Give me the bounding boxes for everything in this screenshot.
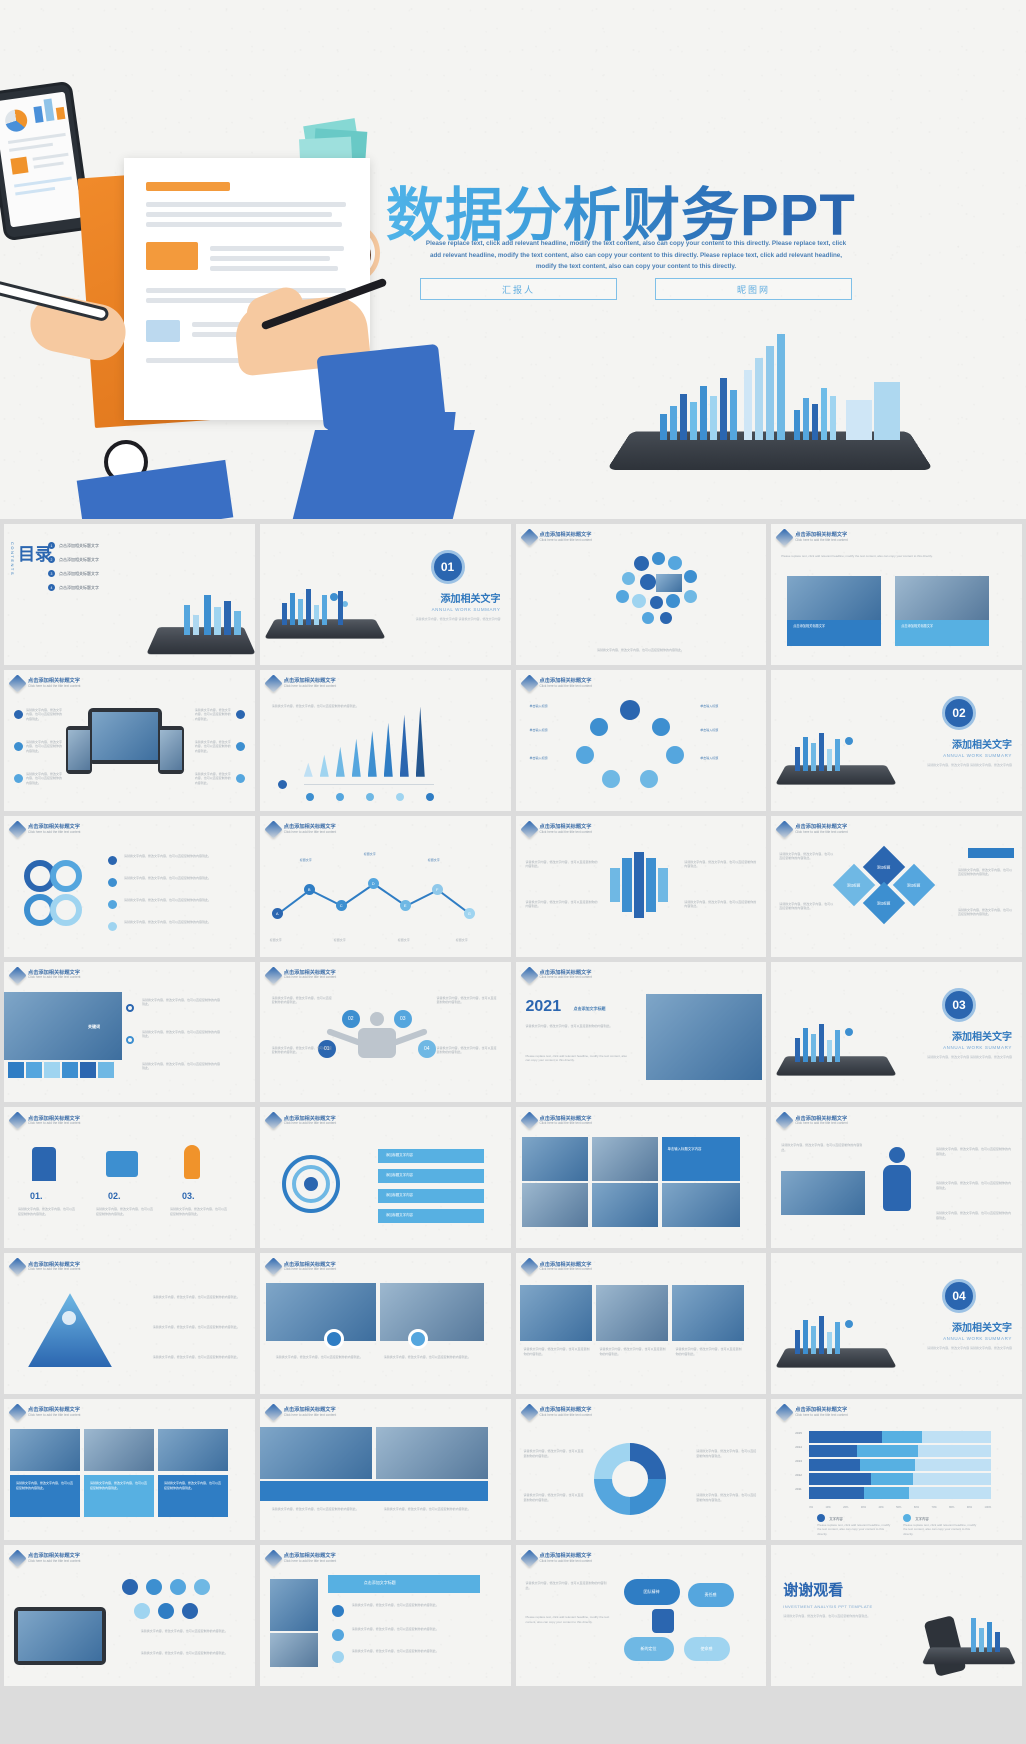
number-badge: 03 bbox=[394, 1010, 412, 1028]
diamond-icon bbox=[8, 966, 26, 984]
slide-thumbnail-person-numbers[interactable]: 点击添加相关标题文字 Click here to add the title t… bbox=[260, 962, 511, 1103]
slide-body-text: 请替换文字内容，修改文字内容，也可以直接复制你的内容到此。 bbox=[684, 860, 756, 869]
slide-body-text: 请替换文字内容，修改文字内容，也可以直接复制你的内容到此。 bbox=[272, 1507, 372, 1512]
chart-category-label: 2011 bbox=[795, 1487, 801, 1491]
chart-x-tick: 80% bbox=[949, 1506, 954, 1509]
slide-thumbnail-grid: CONTENTS 目录 1 点击添加相关标题文字 2 点击添加相关标题文字 3 … bbox=[0, 519, 1026, 1691]
slide-body-text: 请替换文字内容，修改文字内容，也可以直接复制你的内容到此。 bbox=[958, 908, 1014, 917]
section-title: 添加相关文字 bbox=[927, 736, 1012, 751]
slide-thumbnail-section-03[interactable]: 03 添加相关文字 ANNUAL WORK SUMMARY 请替换文字内容，修改… bbox=[771, 962, 1022, 1103]
legend-label: 文字内容 bbox=[915, 1517, 929, 1522]
checklist-label: 添加标题文字内容 bbox=[386, 1193, 413, 1198]
slide-body-text: 请替换文字内容，修改文字内容，也可以直接复制你的内容到此。 bbox=[142, 998, 222, 1007]
slide-header: 点击添加相关标题文字 Click here to add the title t… bbox=[267, 1114, 336, 1127]
template-preview-page: 数据分析财务PPT Please replace text, click add… bbox=[0, 0, 1026, 1744]
slide-thumbnail-keyword-photo[interactable]: 点击添加相关标题文字 Click here to add the title t… bbox=[4, 962, 255, 1103]
chart-category-label: 2015 bbox=[795, 1431, 802, 1435]
photo-thumb bbox=[84, 1429, 154, 1471]
slide-body-text: 请替换文字内容，修改文字内容，也可以直接复制你的内容到此。 bbox=[18, 1207, 76, 1216]
thumbnail-strip bbox=[8, 1062, 114, 1078]
chart-bar-segment bbox=[857, 1445, 919, 1457]
axis-label: 标题文字 bbox=[364, 852, 376, 857]
section-title-block: 添加相关文字 ANNUAL WORK SUMMARY 请替换文字内容，修改文字内… bbox=[416, 590, 501, 622]
slide-body-text: Please replace text, click add relevant … bbox=[526, 1615, 612, 1624]
list-item-label: 点击添加相关标题文字 bbox=[59, 585, 99, 591]
slide-header: 点击添加相关标题文字 Click here to add the title t… bbox=[11, 1260, 80, 1273]
diamond-icon bbox=[264, 1403, 282, 1421]
section-number-badge: 02 bbox=[942, 696, 976, 730]
slide-body-text: 请替换文字内容，修改文字内容，也可以直接复制你的内容到此。 bbox=[272, 1046, 334, 1055]
slide-thumbnail-section-04[interactable]: 04 添加相关文字 ANNUAL WORK SUMMARY 请替换文字内容，修改… bbox=[771, 1253, 1022, 1394]
list-item-label: 点击添加相关标题文字 bbox=[59, 557, 99, 563]
list-item[interactable]: 3 点击添加相关标题文字 bbox=[48, 570, 99, 577]
slide-header: 点击添加相关标题文字 Click here to add the title t… bbox=[267, 1406, 336, 1419]
slide-thumbnail-team-clouds[interactable]: 点击添加相关标题文字 Click here to add the title t… bbox=[516, 1545, 767, 1686]
slide-body-text: 请替换文字内容，修改文字内容，也可以直接复制你的内容到此。 bbox=[936, 1181, 1012, 1190]
chart-x-tick: 50% bbox=[896, 1506, 901, 1509]
slide-body-text: 请替换文字内容，修改文字内容，也可以直接复制你的内容到此。 bbox=[524, 1493, 586, 1502]
slide-label: 单击输入标题 bbox=[530, 728, 582, 733]
diamond-icon bbox=[520, 1549, 538, 1567]
title-banner-label: 点击添加文字标题 bbox=[364, 1580, 396, 1586]
diamond-icon bbox=[264, 820, 282, 838]
slide-body-text: 请替换文字内容，修改文字内容，也可以直接复制你的内容到此。 bbox=[936, 1211, 1012, 1220]
photo-thumb bbox=[672, 1285, 744, 1341]
person-icon bbox=[889, 1147, 905, 1163]
slide-body-text: 请替换文字内容，修改文字内容，也可以直接复制你的内容到此。 bbox=[684, 900, 756, 909]
slide-thumbnail-grid-photos[interactable]: 点击添加相关标题文字 Click here to add the title t… bbox=[4, 1399, 255, 1540]
number-badge: 04 bbox=[418, 1040, 436, 1058]
slide-body-text: 请替换文字内容，修改文字内容，也可以直接复制你的内容到此。 bbox=[779, 852, 835, 861]
diamond-icon bbox=[264, 674, 282, 692]
diamond-icon bbox=[520, 1403, 538, 1421]
caption-box bbox=[260, 1481, 488, 1501]
thankyou-subtitle: INVESTMENT ANALYSIS PPT TEMPLATE bbox=[783, 1604, 903, 1609]
slide-header-sub: Click here to add the title text content bbox=[540, 539, 592, 543]
list-item-label: 点击添加相关标题文字 bbox=[59, 571, 99, 577]
chart-bar-segment bbox=[913, 1473, 991, 1485]
contents-cn-label: 目录 bbox=[18, 540, 52, 565]
slide-header: 点击添加相关标题文字 Click here to add the title t… bbox=[778, 823, 847, 836]
slide-thumbnail-photo-collage[interactable]: 点击添加相关标题文字 Click here to add the title t… bbox=[516, 1107, 767, 1248]
slide-thumbnail-icon-cluster[interactable]: 点击添加相关标题文字 Click here to add the title t… bbox=[516, 524, 767, 665]
slide-body-text: 请替换文字内容，修改文字内容，也可以直接复制你的内容到此。 bbox=[124, 876, 220, 881]
slide-header-sub: Click here to add the title text content bbox=[284, 685, 336, 689]
slide-header-sub: Click here to add the title text content bbox=[540, 976, 592, 980]
photo-thumb bbox=[158, 1429, 228, 1471]
photo-thumb bbox=[522, 1183, 588, 1227]
chart-bar-segment bbox=[809, 1487, 864, 1499]
photo-thumb bbox=[662, 1183, 740, 1227]
slide-header: 点击添加相关标题文字 Click here to add the title t… bbox=[523, 1114, 592, 1127]
checklist-label: 添加标题文字内容 bbox=[386, 1153, 413, 1158]
section-subtitle: ANNUAL WORK SUMMARY bbox=[927, 1045, 1012, 1050]
slide-body-text: 请替换文字内容，修改文字内容，也可以直接复制你的内容到此。 bbox=[141, 1651, 245, 1656]
slide-header: 点击添加相关标题文字 Click here to add the title t… bbox=[523, 1260, 592, 1273]
phone-device bbox=[924, 1615, 967, 1677]
slide-body-text: Please replace text, click add relevant … bbox=[526, 1054, 630, 1063]
slide-body-text: 请替换文字内容，修改文字内容，也可以直接复制你的内容到此。 bbox=[153, 1325, 245, 1330]
reporter-button[interactable]: 汇报人 bbox=[420, 278, 617, 300]
slide-header: 点击添加相关标题文字 Click here to add the title t… bbox=[523, 531, 592, 544]
slide-label: 单击输入标题 bbox=[530, 704, 582, 709]
chart-bar-segment bbox=[809, 1431, 882, 1443]
photo-thumb bbox=[270, 1579, 318, 1631]
slide-header-sub: Click here to add the title text content bbox=[795, 831, 847, 835]
slide-thumbnail-gear-cycle[interactable]: 点击添加相关标题文字 Click here to add the title t… bbox=[516, 1399, 767, 1540]
slide-header-sub: Click here to add the title text content bbox=[540, 1414, 592, 1418]
slide-thumbnail-wide-photo-circles[interactable]: 点击添加相关标题文字 Click here to add the title t… bbox=[260, 1253, 511, 1394]
contents-en-label: CONTENTS bbox=[10, 542, 15, 576]
slide-body-text: 请替换文字内容，修改文字内容，也可以直接复制你的内容到此。 bbox=[195, 740, 233, 754]
slide-body-text: 请替换文字内容，修改文字内容，也可以直接复制你的内容到此。 bbox=[170, 1207, 228, 1216]
slide-header-sub: Click here to add the title text content bbox=[28, 1414, 80, 1418]
slide-header-sub: Click here to add the title text content bbox=[540, 831, 592, 835]
axis-label: 标题文字 bbox=[334, 938, 346, 943]
slide-body-text: 请替换文字内容，修改文字内容，也可以直接复制你的内容到此。 bbox=[526, 1024, 630, 1029]
number-badge: 02 bbox=[342, 1010, 360, 1028]
slide-label: 单击输入标题 bbox=[530, 756, 582, 761]
folder-icon bbox=[106, 1151, 138, 1177]
chart-row: 2011 bbox=[809, 1487, 991, 1499]
chart-bar-segment bbox=[809, 1459, 860, 1471]
slide-body-text: 请替换文字内容，修改文字内容，也可以直接复制你的内容到此。 bbox=[26, 740, 64, 754]
chart-bar-segment bbox=[864, 1487, 910, 1499]
slide-body-text: 请替换文字内容，修改文字内容，也可以直接复制你的内容到此。 bbox=[384, 1507, 484, 1512]
slide-body-text: 请替换文字内容，修改文字内容，也可以直接复制你的内容到此。 bbox=[781, 1143, 865, 1152]
section-number-badge: 03 bbox=[942, 988, 976, 1022]
slide-thumbnail-diamonds[interactable]: 点击添加相关标题文字 Click here to add the title t… bbox=[771, 816, 1022, 957]
slide-header-sub: Click here to add the title text content bbox=[540, 1560, 592, 1564]
slide-body-text: 请替换文字内容，修改文字内容，也可以直接复制你的内容到此。 bbox=[696, 1449, 758, 1458]
photo-thumb bbox=[787, 576, 881, 620]
diamond-icon bbox=[520, 820, 538, 838]
caption-label: 请替换文字内容，修改文字内容，也可以直接复制你的内容到此。 bbox=[164, 1481, 222, 1490]
photo-thumb bbox=[520, 1285, 592, 1341]
hero-banner: 数据分析财务PPT Please replace text, click add… bbox=[0, 0, 1026, 519]
slide-header-sub: Click here to add the title text content bbox=[540, 1122, 592, 1126]
hero-bar-chart bbox=[660, 330, 900, 440]
section-title-block: 添加相关文字 ANNUAL WORK SUMMARY 请替换文字内容，修改文字内… bbox=[927, 1319, 1012, 1351]
slide-body-text: 请替换文字内容，修改文字内容，也可以直接复制你的内容到此。 bbox=[96, 1207, 154, 1216]
slide-thumbnail-split-photo[interactable]: 点击添加相关标题文字 Click here to add the title t… bbox=[260, 1399, 511, 1540]
slide-body-text: 请替换文字内容，修改文字内容，也可以直接复制你的内容到此。 bbox=[26, 708, 64, 722]
slide-body-text: 请替换文字内容，修改文字内容，也可以直接复制你的内容到此。 bbox=[272, 704, 362, 709]
slide-body-text: 请替换文字内容，修改文字内容，也可以直接复制你的内容到此。 bbox=[26, 772, 64, 786]
hero-button-row: 汇报人 昵图网 bbox=[420, 278, 852, 300]
checklist-label: 添加标题文字内容 bbox=[386, 1213, 413, 1218]
slide-body-text: 请替换文字内容，修改文字内容，也可以直接复制你的内容到此。 bbox=[779, 902, 835, 911]
slide-header: 点击添加相关标题文字 Click here to add the title t… bbox=[11, 1552, 80, 1565]
list-index: 4 bbox=[48, 584, 55, 591]
step-number: 01. bbox=[30, 1191, 43, 1201]
slide-header: 点击添加相关标题文字 Click here to add the title t… bbox=[11, 969, 80, 982]
slide-body-text: 请替换文字内容，修改文字内容，也可以直接复制你的内容到此。 bbox=[526, 860, 598, 869]
section-desc: 请替换文字内容，修改文字内容 请替换文字内容，修改文字内容 bbox=[927, 1346, 1012, 1351]
slide-header: 点击添加相关标题文字 Click here to add the title t… bbox=[523, 823, 592, 836]
tag-bubble: 使命感 bbox=[684, 1637, 730, 1661]
section-title: 添加相关文字 bbox=[416, 590, 501, 605]
section-subtitle: ANNUAL WORK SUMMARY bbox=[927, 753, 1012, 758]
chart-bar-segment bbox=[909, 1487, 991, 1499]
list-index: 2 bbox=[48, 556, 55, 563]
tag-bubble: 新的定位 bbox=[624, 1637, 674, 1661]
slide-label: 单击输入标题 bbox=[700, 728, 752, 733]
diamond-icon bbox=[520, 528, 538, 546]
diamond-label: 添加标题 bbox=[907, 882, 921, 887]
slide-thumbnail-pin-icons[interactable]: 点击添加相关标题文字 Click here to add the title t… bbox=[516, 670, 767, 811]
slide-body-text: 请替换文字内容，修改文字内容，也可以直接复制你的内容到此。 bbox=[124, 854, 220, 859]
diamond-icon bbox=[520, 1258, 538, 1276]
thankyou-block: 谢谢观看 INVESTMENT ANALYSIS PPT TEMPLATE 请替… bbox=[783, 1579, 903, 1619]
slide-header: 点击添加相关标题文字 Click here to add the title t… bbox=[523, 969, 592, 982]
diamond-label: 添加标题 bbox=[877, 864, 891, 869]
chart-bar-segment bbox=[915, 1459, 991, 1471]
chart-bar-segment bbox=[860, 1459, 915, 1471]
chart-row: 2012 bbox=[809, 1473, 991, 1485]
diamond-icon bbox=[776, 528, 794, 546]
slide-header-sub: Click here to add the title text content bbox=[284, 831, 336, 835]
slide-body-text: 请替换文字内容，修改文字内容，也可以直接复制你的内容到此。 bbox=[352, 1649, 480, 1654]
slide-thumbnail-3d-bars[interactable]: 点击添加相关标题文字 Click here to add the title t… bbox=[516, 816, 767, 957]
source-button[interactable]: 昵图网 bbox=[655, 278, 852, 300]
tag-bubble: 责任感 bbox=[688, 1583, 734, 1607]
slide-body-text: 请替换文字内容，修改文字内容，也可以直接复制你的内容到此。 bbox=[534, 648, 748, 653]
legend-label: 文字内容 bbox=[829, 1517, 843, 1522]
chart-category-label: 2012 bbox=[795, 1473, 802, 1477]
slide-header: 点击添加相关标题文字 Click here to add the title t… bbox=[267, 1552, 336, 1565]
slide-thumbnail-devices[interactable]: 点击添加相关标题文字 Click here to add the title t… bbox=[4, 670, 255, 811]
section-subtitle: ANNUAL WORK SUMMARY bbox=[416, 607, 501, 612]
section-number-badge: 04 bbox=[942, 1279, 976, 1313]
slide-body-text: Please replace text, click add relevant … bbox=[903, 1523, 979, 1537]
list-item[interactable]: 2 点击添加相关标题文字 bbox=[48, 556, 99, 563]
chart-row: 2015 bbox=[809, 1431, 991, 1443]
slide-thumbnail-year-photo[interactable]: 点击添加相关标题文字 Click here to add the title t… bbox=[516, 962, 767, 1103]
photo-thumb bbox=[266, 1283, 376, 1341]
slide-body-text: 请替换文字内容，修改文字内容，也可以直接复制你的内容到此。 bbox=[142, 1030, 222, 1039]
diamond-icon bbox=[264, 1112, 282, 1130]
slide-header-sub: Click here to add the title text content bbox=[28, 976, 80, 980]
slide-header: 点击添加相关标题文字 Click here to add the title t… bbox=[523, 677, 592, 690]
slide-body-text: 请替换文字内容，修改文字内容，也可以直接复制你的内容到此。 bbox=[437, 1046, 499, 1055]
caption-label: 点击添加相关标题文字 bbox=[901, 624, 985, 629]
photo-thumb bbox=[895, 576, 989, 620]
photo-thumb bbox=[380, 1283, 484, 1341]
diamond-icon bbox=[8, 1112, 26, 1130]
caption-label: 请替换文字内容，修改文字内容，也可以直接复制你的内容到此。 bbox=[16, 1481, 74, 1490]
slide-label: 单击输入标题 bbox=[700, 756, 752, 761]
slide-thumbnail-triangle-bars[interactable]: 点击添加相关标题文字 Click here to add the title t… bbox=[260, 670, 511, 811]
keyword-tag: 关键词 bbox=[88, 1024, 100, 1030]
slide-header-sub: Click here to add the title text content bbox=[28, 1560, 80, 1564]
axis-label: 标题文字 bbox=[456, 938, 468, 943]
chart-x-tick: 0% bbox=[809, 1506, 813, 1509]
slide-header: 点击添加相关标题文字 Click here to add the title t… bbox=[267, 969, 336, 982]
slide-header: 点击添加相关标题文字 Click here to add the title t… bbox=[11, 823, 80, 836]
slide-header-sub: Click here to add the title text content bbox=[284, 1560, 336, 1564]
slide-body-text: 请替换文字内容，修改文字内容，也可以直接复制你的内容到此。 bbox=[958, 868, 1014, 877]
slide-header-sub: Click here to add the title text content bbox=[28, 831, 80, 835]
chart-x-tick: 70% bbox=[932, 1506, 937, 1509]
slide-header-sub: Click here to add the title text content bbox=[284, 1414, 336, 1418]
slide-thumbnail-two-photos[interactable]: 点击添加相关标题文字 Click here to add the title t… bbox=[771, 524, 1022, 665]
slide-header-sub: Click here to add the title text content bbox=[28, 1122, 80, 1126]
slide-thumbnail-tablet-icons[interactable]: 点击添加相关标题文字 Click here to add the title t… bbox=[4, 1545, 255, 1686]
chart-x-tick: 90% bbox=[967, 1506, 972, 1509]
diamond-icon bbox=[8, 1403, 26, 1421]
slide-body-text: 请替换文字内容，修改文字内容，也可以直接复制你的内容到此。 bbox=[124, 898, 220, 903]
slide-body-text: 请替换文字内容，修改文字内容，也可以直接复制你的内容到此。 bbox=[600, 1347, 666, 1356]
diamond-icon bbox=[776, 1112, 794, 1130]
slide-header: 点击添加相关标题文字 Click here to add the title t… bbox=[11, 677, 80, 690]
photo-thumb bbox=[10, 1429, 80, 1471]
slide-header-sub: Click here to add the title text content bbox=[540, 1268, 592, 1272]
axis-label: 标题文字 bbox=[398, 938, 410, 943]
slide-body-text: 请替换文字内容，修改文字内容，也可以直接复制你的内容到此。 bbox=[142, 1062, 222, 1071]
photo-thumb bbox=[376, 1427, 488, 1479]
chart-category-label: 2013 bbox=[795, 1459, 802, 1463]
axis-label: 标题文字 bbox=[270, 938, 282, 943]
contents-list: 1 点击添加相关标题文字 2 点击添加相关标题文字 3 点击添加相关标题文字 4… bbox=[48, 542, 99, 598]
diamond-icon bbox=[264, 1258, 282, 1276]
slide-header: 点击添加相关标题文字 Click here to add the title t… bbox=[267, 677, 336, 690]
photo-thumb bbox=[522, 1137, 588, 1181]
section-desc: 请替换文字内容，修改文字内容 请替换文字内容，修改文字内容 bbox=[927, 763, 1012, 768]
slide-header-sub: Click here to add the title text content bbox=[284, 1268, 336, 1272]
diamond-icon bbox=[8, 1549, 26, 1567]
caption-box bbox=[662, 1137, 740, 1181]
slide-header: 点击添加相关标题文字 Click here to add the title t… bbox=[778, 531, 847, 544]
chart-row: 2013 bbox=[809, 1459, 991, 1471]
slide-body-text: 请替换文字内容，修改文字内容，也可以直接复制你的内容到此。 bbox=[195, 708, 233, 722]
chart-x-tick: 10% bbox=[825, 1506, 830, 1509]
slide-body-text: 请替换文字内容，修改文字内容，也可以直接复制你的内容到此。 bbox=[276, 1355, 370, 1360]
step-number: 03. bbox=[182, 1191, 195, 1201]
chart-bar-segment bbox=[882, 1431, 922, 1443]
slide-thumbnail-rings[interactable]: 点击添加相关标题文字 Click here to add the title t… bbox=[4, 816, 255, 957]
rocket-icon bbox=[184, 1145, 200, 1179]
slide-thumbnail-section-01[interactable]: 01 添加相关文字 ANNUAL WORK SUMMARY 请替换文字内容，修改… bbox=[260, 524, 511, 665]
chart-x-tick: 40% bbox=[878, 1506, 883, 1509]
diamond-icon bbox=[8, 820, 26, 838]
photo-thumb bbox=[4, 992, 122, 1060]
slide-header: 点击添加相关标题文字 Click here to add the title t… bbox=[267, 823, 336, 836]
slide-body-text: 请替换文字内容，修改文字内容，也可以直接复制你的内容到此。 bbox=[936, 1147, 1012, 1156]
slide-header-sub: Click here to add the title text content bbox=[795, 1414, 847, 1418]
section-title-block: 添加相关文字 ANNUAL WORK SUMMARY 请替换文字内容，修改文字内… bbox=[927, 1028, 1012, 1060]
photo-thumb bbox=[260, 1427, 372, 1479]
list-item-label: 点击添加相关标题文字 bbox=[59, 543, 99, 549]
diamond-label: 添加标题 bbox=[847, 882, 861, 887]
tag-box bbox=[968, 848, 1014, 858]
chart-x-tick: 60% bbox=[914, 1506, 919, 1509]
slide-body-text: 请替换文字内容，修改文字内容，也可以直接复制你的内容到此。 bbox=[524, 1449, 586, 1458]
slide-thumbnail-person-stats[interactable]: 点击添加相关标题文字 Click here to add the title t… bbox=[771, 1107, 1022, 1248]
chart-x-tick: 100% bbox=[985, 1506, 992, 1509]
thankyou-title: 谢谢观看 bbox=[783, 1579, 903, 1600]
section-title: 添加相关文字 bbox=[927, 1319, 1012, 1334]
slide-thumbnail-thankyou[interactable]: 谢谢观看 INVESTMENT ANALYSIS PPT TEMPLATE 请替… bbox=[771, 1545, 1022, 1686]
title-banner bbox=[328, 1575, 480, 1593]
caption-label: 请替换文字内容，修改文字内容，也可以直接复制你的内容到此。 bbox=[90, 1481, 148, 1490]
list-item[interactable]: 4 点击添加相关标题文字 bbox=[48, 584, 99, 591]
slide-thumbnail-abcdefg-line[interactable]: 点击添加相关标题文字 Click here to add the title t… bbox=[260, 816, 511, 957]
diamond-icon bbox=[264, 966, 282, 984]
checklist-label: 添加标题文字内容 bbox=[386, 1173, 413, 1178]
slide-body-text: 请替换文字内容，修改文字内容，也可以直接复制你的内容到此。 bbox=[526, 1581, 612, 1590]
list-index: 3 bbox=[48, 570, 55, 577]
section-number-badge: 01 bbox=[431, 550, 465, 584]
axis-label: 标题文字 bbox=[300, 858, 312, 863]
slide-thumbnail-section-02[interactable]: 02 添加相关文字 ANNUAL WORK SUMMARY 请替换文字内容，修改… bbox=[771, 670, 1022, 811]
diamond-icon bbox=[8, 1258, 26, 1276]
slide-body-text: 请替换文字内容，修改文字内容，也可以直接复制你的内容到此。 bbox=[352, 1603, 480, 1608]
slide-title: 点击添加文字标题 bbox=[574, 1006, 606, 1012]
caption-label: 单击输入标题文字内容 bbox=[668, 1147, 734, 1152]
chart-bar-segment bbox=[809, 1473, 871, 1485]
slide-body-text: 请替换文字内容，修改文字内容，也可以直接复制你的内容到此。 bbox=[153, 1355, 245, 1360]
chart-x-axis: 0%10%20%30%40%50%60%70%80%90%100% bbox=[809, 1506, 991, 1509]
photo-thumb bbox=[592, 1183, 658, 1227]
list-item[interactable]: 1 点击添加相关标题文字 bbox=[48, 542, 99, 549]
photo-thumb bbox=[781, 1171, 865, 1215]
section-subtitle: ANNUAL WORK SUMMARY bbox=[927, 1336, 1012, 1341]
slide-body-text: 请替换文字内容，修改文字内容，也可以直接复制你的内容到此。 bbox=[526, 900, 598, 909]
diamond-icon bbox=[520, 966, 538, 984]
slide-thumbnail-doc-title[interactable]: 点击添加相关标题文字 Click here to add the title t… bbox=[260, 1545, 511, 1686]
slide-body-text: 请替换文字内容，修改文字内容，也可以直接复制你的内容到此。 bbox=[195, 772, 233, 786]
diamond-icon bbox=[776, 820, 794, 838]
photo-thumb bbox=[270, 1633, 318, 1667]
slide-body-text: 请替换文字内容，修改文字内容，也可以直接复制你的内容到此。 bbox=[696, 1493, 758, 1502]
diamond-icon bbox=[520, 674, 538, 692]
slide-thumbnail-target-checklist[interactable]: 点击添加相关标题文字 Click here to add the title t… bbox=[260, 1107, 511, 1248]
diamond-label: 添加标题 bbox=[877, 900, 891, 905]
list-index: 1 bbox=[48, 542, 55, 549]
slide-body-text: 请替换文字内容，修改文字内容，也可以直接复制你的内容到此。 bbox=[141, 1629, 245, 1634]
chart-row: 2014 bbox=[809, 1445, 991, 1457]
slide-thumbnail-contents[interactable]: CONTENTS 目录 1 点击添加相关标题文字 2 点击添加相关标题文字 3 … bbox=[4, 524, 255, 665]
slide-thumbnail-pyramid[interactable]: 点击添加相关标题文字 Click here to add the title t… bbox=[4, 1253, 255, 1394]
diamond-icon bbox=[264, 1549, 282, 1567]
slide-header: 点击添加相关标题文字 Click here to add the title t… bbox=[11, 1406, 80, 1419]
slide-header-sub: Click here to add the title text content bbox=[284, 976, 336, 980]
slide-header-sub: Click here to add the title text content bbox=[795, 1122, 847, 1126]
slide-thumbnail-steps[interactable]: 点击添加相关标题文字 Click here to add the title t… bbox=[4, 1107, 255, 1248]
slide-thumbnail-photo-row[interactable]: 点击添加相关标题文字 Click here to add the title t… bbox=[516, 1253, 767, 1394]
slide-thumbnail-stacked-bar-chart[interactable]: 点击添加相关标题文字 Click here to add the title t… bbox=[771, 1399, 1022, 1540]
slide-header-sub: Click here to add the title text content bbox=[28, 1268, 80, 1272]
slide-label: 单击输入标题 bbox=[700, 704, 752, 709]
year-label: 2021 bbox=[526, 998, 562, 1016]
slide-body-text: 请替换文字内容，修改文字内容，也可以直接复制你的内容到此。 bbox=[437, 996, 499, 1005]
diamond-icon bbox=[776, 1403, 794, 1421]
tag-bubble: 团队精神 bbox=[624, 1579, 680, 1605]
diamond-icon bbox=[8, 674, 26, 692]
phone-illustration bbox=[0, 81, 92, 242]
chart-bar-segment bbox=[871, 1473, 913, 1485]
slide-body-text: 请替换文字内容，修改文字内容，也可以直接复制你的内容到此。 bbox=[352, 1627, 480, 1632]
chart-bar-segment bbox=[809, 1445, 856, 1457]
photo-thumb bbox=[592, 1137, 658, 1181]
diamond-icon bbox=[520, 1112, 538, 1130]
presenter-icon bbox=[32, 1147, 56, 1181]
slide-header-sub: Click here to add the title text content bbox=[28, 685, 80, 689]
slide-body-text: Please replace text, click add relevant … bbox=[817, 1523, 893, 1537]
thankyou-desc: 请替换文字内容，修改文字内容，也可以直接复制你的内容到此。 bbox=[783, 1614, 903, 1619]
slide-body-text: 请替换文字内容，修改文字内容，也可以直接复制你的内容到此。 bbox=[153, 1295, 245, 1300]
